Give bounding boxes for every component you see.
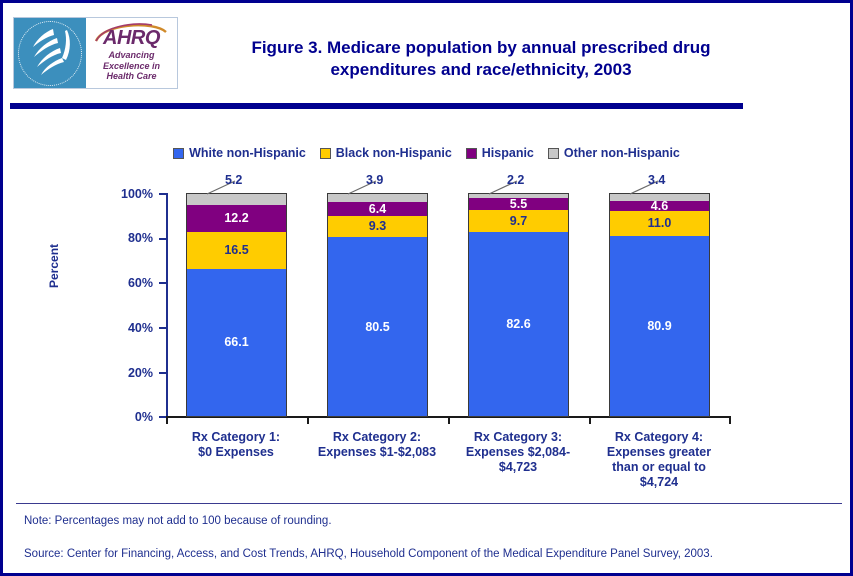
ahrq-acronym: AHRQ <box>103 28 160 48</box>
bar-value-label: 80.5 <box>365 321 389 333</box>
bar-value-label: 11.0 <box>648 217 672 229</box>
stacked-bar-category-4[interactable]: 4.6 11.0 80.9 <box>609 193 710 417</box>
chart-plot-area: Percent 100% 80% 60% 40% 20% 0% 12.2 <box>3 3 850 573</box>
bar-segment-white-non-hispanic[interactable]: 80.5 <box>327 237 428 417</box>
bar-value-label: 12.2 <box>224 212 248 224</box>
bar-segment-white-non-hispanic[interactable]: 66.1 <box>186 269 287 417</box>
x-axis-category-label-1: Rx Category 1: $0 Expenses <box>166 430 306 460</box>
cat4-line4: $4,724 <box>640 475 678 489</box>
bar-callout-label-other-2: 3.9 <box>366 173 383 187</box>
x-axis-category-label-4: Rx Category 4: Expenses greater than or … <box>589 430 729 490</box>
cat4-line2: Expenses greater <box>607 445 711 459</box>
x-tick-mark <box>589 416 591 424</box>
bar-value-label: 82.6 <box>506 318 530 330</box>
cat4-line1: Rx Category 4: <box>615 430 703 444</box>
cat2-line2: Expenses $1-$2,083 <box>318 445 436 459</box>
bar-callout-label-other-4: 3.4 <box>648 173 665 187</box>
bar-segment-black-non-hispanic[interactable]: 16.5 <box>186 232 287 269</box>
bar-value-label: 80.9 <box>647 320 671 332</box>
x-axis-category-label-3: Rx Category 3: Expenses $2,084- $4,723 <box>448 430 588 475</box>
bar-segment-hispanic[interactable]: 6.4 <box>327 202 428 216</box>
cat3-line2: Expenses $2,084- <box>466 445 570 459</box>
cat4-line3: than or equal to <box>612 460 706 474</box>
x-tick-mark <box>729 416 731 424</box>
bar-value-label: 9.7 <box>510 215 527 227</box>
bar-segment-white-non-hispanic[interactable]: 80.9 <box>609 236 710 417</box>
x-tick-mark <box>166 416 168 424</box>
callout-leader-lines <box>3 173 850 203</box>
bar-segment-black-non-hispanic[interactable]: 9.3 <box>327 216 428 237</box>
bar-callout-label-other-3: 2.2 <box>507 173 524 187</box>
bar-segment-black-non-hispanic[interactable]: 9.7 <box>468 210 569 232</box>
chart-source: Source: Center for Financing, Access, an… <box>24 548 713 560</box>
bar-segment-white-non-hispanic[interactable]: 82.6 <box>468 232 569 417</box>
cat2-line1: Rx Category 2: <box>333 430 421 444</box>
chart-note: Note: Percentages may not add to 100 bec… <box>24 515 332 527</box>
bar-segment-hispanic[interactable]: 12.2 <box>186 205 287 232</box>
stacked-bar-category-3[interactable]: 5.5 9.7 82.6 <box>468 193 569 417</box>
bar-callout-label-other-1: 5.2 <box>225 173 242 187</box>
figure-page: AHRQ Advancing Excellence in Health Care… <box>0 0 853 576</box>
cat3-line3: $4,723 <box>499 460 537 474</box>
bar-segment-black-non-hispanic[interactable]: 11.0 <box>609 211 710 236</box>
bar-value-label: 16.5 <box>224 244 248 256</box>
x-tick-mark <box>448 416 450 424</box>
bar-value-label: 66.1 <box>224 336 248 348</box>
footer-divider <box>16 503 842 504</box>
bars-layer: 12.2 16.5 66.1 6.4 9.3 80.5 <box>3 193 850 417</box>
bar-value-label: 9.3 <box>369 220 386 232</box>
cat1-line2: $0 Expenses <box>198 445 274 459</box>
bar-value-label: 6.4 <box>369 203 386 215</box>
x-tick-mark <box>307 416 309 424</box>
cat1-line1: Rx Category 1: <box>192 430 280 444</box>
x-axis-category-label-2: Rx Category 2: Expenses $1-$2,083 <box>307 430 447 460</box>
cat3-line1: Rx Category 3: <box>474 430 562 444</box>
stacked-bar-category-1[interactable]: 12.2 16.5 66.1 <box>186 193 287 417</box>
stacked-bar-category-2[interactable]: 6.4 9.3 80.5 <box>327 193 428 417</box>
